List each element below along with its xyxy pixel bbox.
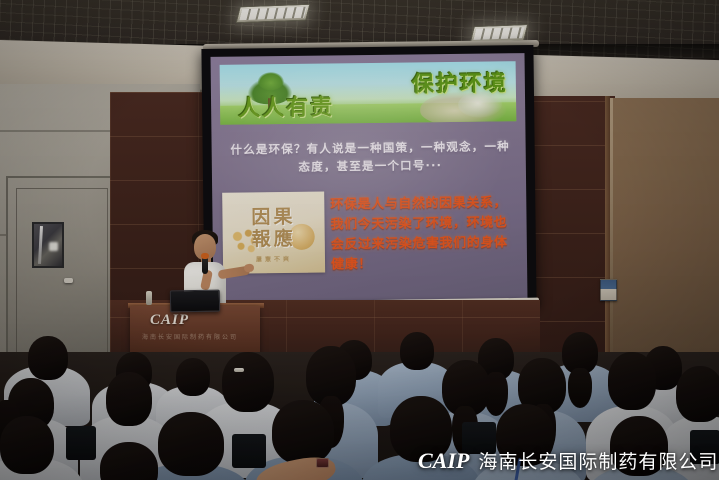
- slide-orange-text: 环保是人与自然的因果关系，我们今天污染了环境，环境也会反过来污染危害我们的身体健…: [330, 193, 519, 275]
- water-bottle: [146, 291, 152, 305]
- ceiling-light-left: [236, 4, 311, 24]
- watermark: CAIP 海南长安国际制药有限公司: [418, 447, 718, 474]
- right-tan-wall: [612, 98, 719, 368]
- slide-body-text: 什么是环保？有人说是一种国策，一种观念，一种态度，甚至是一个口号···: [228, 137, 513, 176]
- presentation-slide: 保护环境 人人有责 什么是环保？有人说是一种国策，一种观念，一种态度，甚至是一个…: [211, 53, 528, 302]
- chair-back: [66, 426, 96, 460]
- conference-room-photo: 保护环境 人人有责 什么是环保？有人说是一种国策，一种观念，一种态度，甚至是一个…: [0, 0, 719, 480]
- wood-panel-right: [530, 96, 615, 366]
- wristwatch: [316, 458, 329, 468]
- wall-notice-sign: [600, 279, 617, 301]
- microphone-head-icon: [201, 253, 209, 259]
- slide-banner-title-left: 人人有责: [238, 89, 334, 122]
- podium-logo: CAIP: [150, 312, 189, 329]
- door-handle[interactable]: [64, 278, 73, 283]
- slide-banner-image: 保护环境 人人有责: [220, 61, 517, 125]
- watermark-company: 海南长安国际制药有限公司: [478, 447, 718, 474]
- chair-back: [232, 434, 266, 468]
- slide-banner-title-right: 保护环境: [412, 65, 508, 98]
- laptop[interactable]: [170, 290, 220, 313]
- door-window: [32, 222, 64, 268]
- watermark-brand: CAIP: [418, 448, 469, 474]
- room-door[interactable]: [6, 176, 118, 356]
- tan-wall-edge: [610, 98, 613, 368]
- hair-clip: [234, 368, 244, 372]
